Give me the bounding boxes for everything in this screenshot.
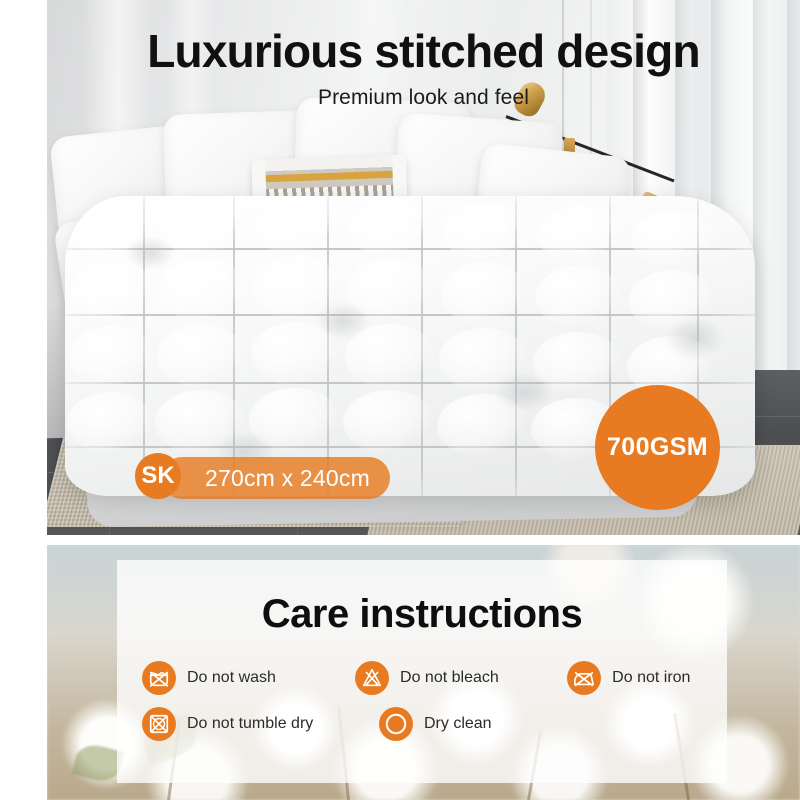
quilt-seam-vertical [327,196,329,496]
care-item-do-not-tumble-dry: Do not tumble dry [142,707,379,741]
quilt-seam-vertical [233,196,235,496]
care-item-dry-clean: Dry clean [379,707,579,741]
gsm-badge: 700GSM [595,385,720,510]
duvet-shadow [125,236,175,270]
care-instructions-title: Care instructions [117,560,727,637]
do-not-wash-icon [142,661,176,695]
quilt-seam-vertical [515,196,517,496]
care-row: Do not wash Do not bleach [142,661,702,695]
do-not-tumble-dry-icon [142,707,176,741]
duvet-shadow [495,372,555,412]
duvet-shadow [315,302,371,340]
quilt-seam-vertical [421,196,423,496]
duvet-puff [67,392,155,454]
page-title: Luxurious stitched design [47,28,800,74]
duvet-puff [629,270,717,332]
care-instructions-section: Care instructions Do not wash [47,545,800,800]
do-not-iron-icon [567,661,601,695]
do-not-bleach-icon [355,661,389,695]
care-item-do-not-wash: Do not wash [142,661,355,695]
hero-heading-group: Luxurious stitched design Premium look a… [47,28,800,110]
care-item-label: Do not iron [612,669,690,687]
page-subtitle: Premium look and feel [47,86,800,110]
size-code-badge: SK [135,453,181,499]
care-item-label: Do not bleach [400,669,499,687]
quilt-seam-horizontal [65,314,755,316]
hero-product-image: Luxurious stitched design Premium look a… [47,0,800,535]
quilt-seam-horizontal [65,248,755,250]
duvet-puff [631,210,717,268]
cushion-gold-stripe [258,171,401,183]
duvet-shadow [665,316,725,360]
dry-clean-icon [379,707,413,741]
care-instructions-card: Care instructions Do not wash [117,560,727,783]
quilt-seam-vertical [143,196,145,496]
care-instructions-list: Do not wash Do not bleach [117,661,727,741]
size-badge: 270cm x 240cm SK [135,457,181,499]
care-item-do-not-bleach: Do not bleach [355,661,567,695]
size-dimensions-label: 270cm x 240cm [161,457,390,499]
care-item-label: Do not wash [187,669,276,687]
care-item-label: Do not tumble dry [187,715,313,733]
care-row: Do not tumble dry Dry clean [142,707,702,741]
quilt-seam-horizontal [65,382,755,384]
care-item-do-not-iron: Do not iron [567,661,702,695]
care-item-label: Dry clean [424,715,492,733]
